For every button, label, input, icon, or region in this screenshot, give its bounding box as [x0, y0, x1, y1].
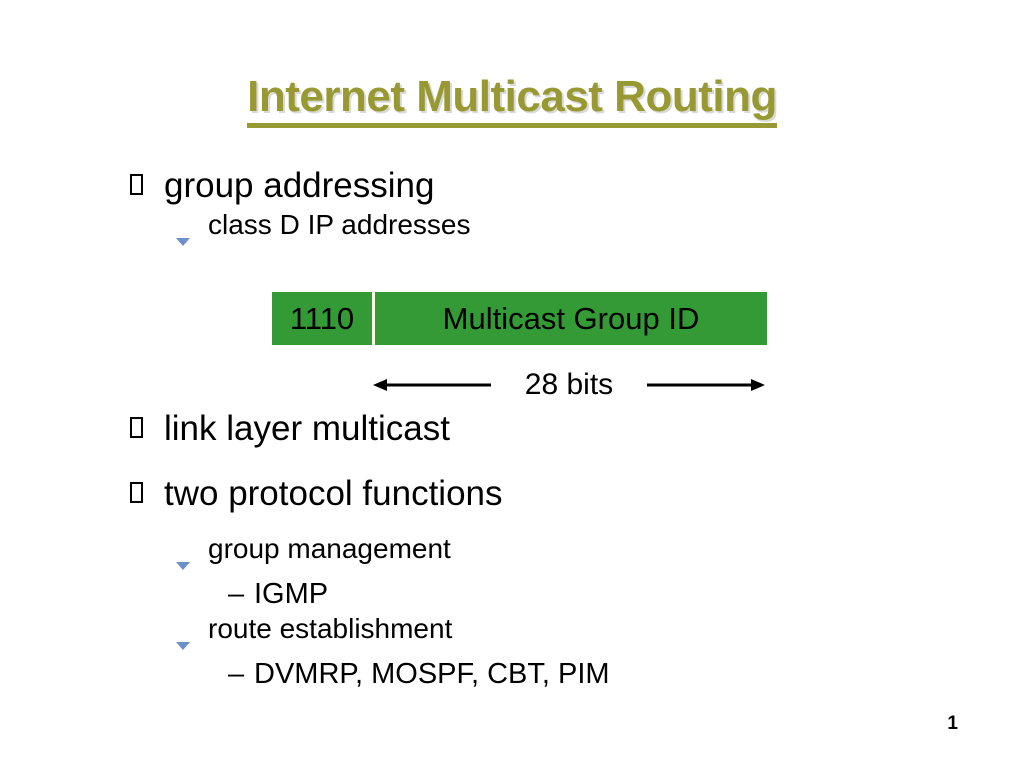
- bullet-box-icon: [130, 166, 164, 201]
- bullet-label: class D IP addresses: [208, 209, 471, 240]
- bullet-triangle-down-icon: [176, 209, 208, 252]
- spacer: [0, 517, 1024, 533]
- slide-body: group addressing class D IP addresses li…: [0, 166, 1024, 693]
- class-d-address-format-figure: 1110 Multicast Group ID: [272, 292, 767, 345]
- page-title-text: Internet Multicast Routing: [247, 72, 777, 128]
- bullet-label: route establishment: [208, 613, 452, 644]
- bullet-label: group addressing: [164, 166, 434, 205]
- bullet-box-icon: [130, 409, 164, 444]
- address-prefix-field: 1110: [272, 292, 372, 345]
- bullet-label: DVMRP, MOSPF, CBT, PIM: [254, 658, 610, 690]
- bullet-triangle-down-icon: [176, 613, 208, 656]
- bullet-label: link layer multicast: [164, 409, 450, 448]
- bullet-dash-icon: –: [228, 578, 254, 610]
- bullet-routing-protocols: – DVMRP, MOSPF, CBT, PIM: [0, 658, 1024, 690]
- bullet-route-establishment: route establishment: [0, 613, 1024, 656]
- page-number: 1: [947, 713, 958, 735]
- bullet-link-layer-multicast: link layer multicast: [0, 409, 1024, 448]
- bit-width-annotation: 28 bits: [373, 368, 765, 402]
- bullet-label: two protocol functions: [164, 474, 503, 513]
- bullet-triangle-down-icon: [176, 533, 208, 576]
- bullet-igmp: – IGMP: [0, 578, 1024, 610]
- slide: Internet Multicast Routing group address…: [0, 0, 1024, 768]
- bullet-label: IGMP: [254, 578, 328, 610]
- address-format-box: 1110 Multicast Group ID: [272, 292, 767, 345]
- bullet-two-protocol-functions: two protocol functions: [0, 474, 1024, 513]
- bullet-dash-icon: –: [228, 658, 254, 690]
- bullet-group-addressing: group addressing: [0, 166, 1024, 205]
- bullet-class-d-ip-addresses: class D IP addresses: [0, 209, 1024, 252]
- bullet-box-icon: [130, 474, 164, 509]
- bit-width-label: 28 bits: [373, 368, 765, 402]
- address-group-id-field: Multicast Group ID: [375, 292, 767, 345]
- spacer: [0, 452, 1024, 474]
- bullet-label: group management: [208, 533, 451, 564]
- bullet-group-management: group management: [0, 533, 1024, 576]
- page-title: Internet Multicast Routing: [0, 72, 1024, 128]
